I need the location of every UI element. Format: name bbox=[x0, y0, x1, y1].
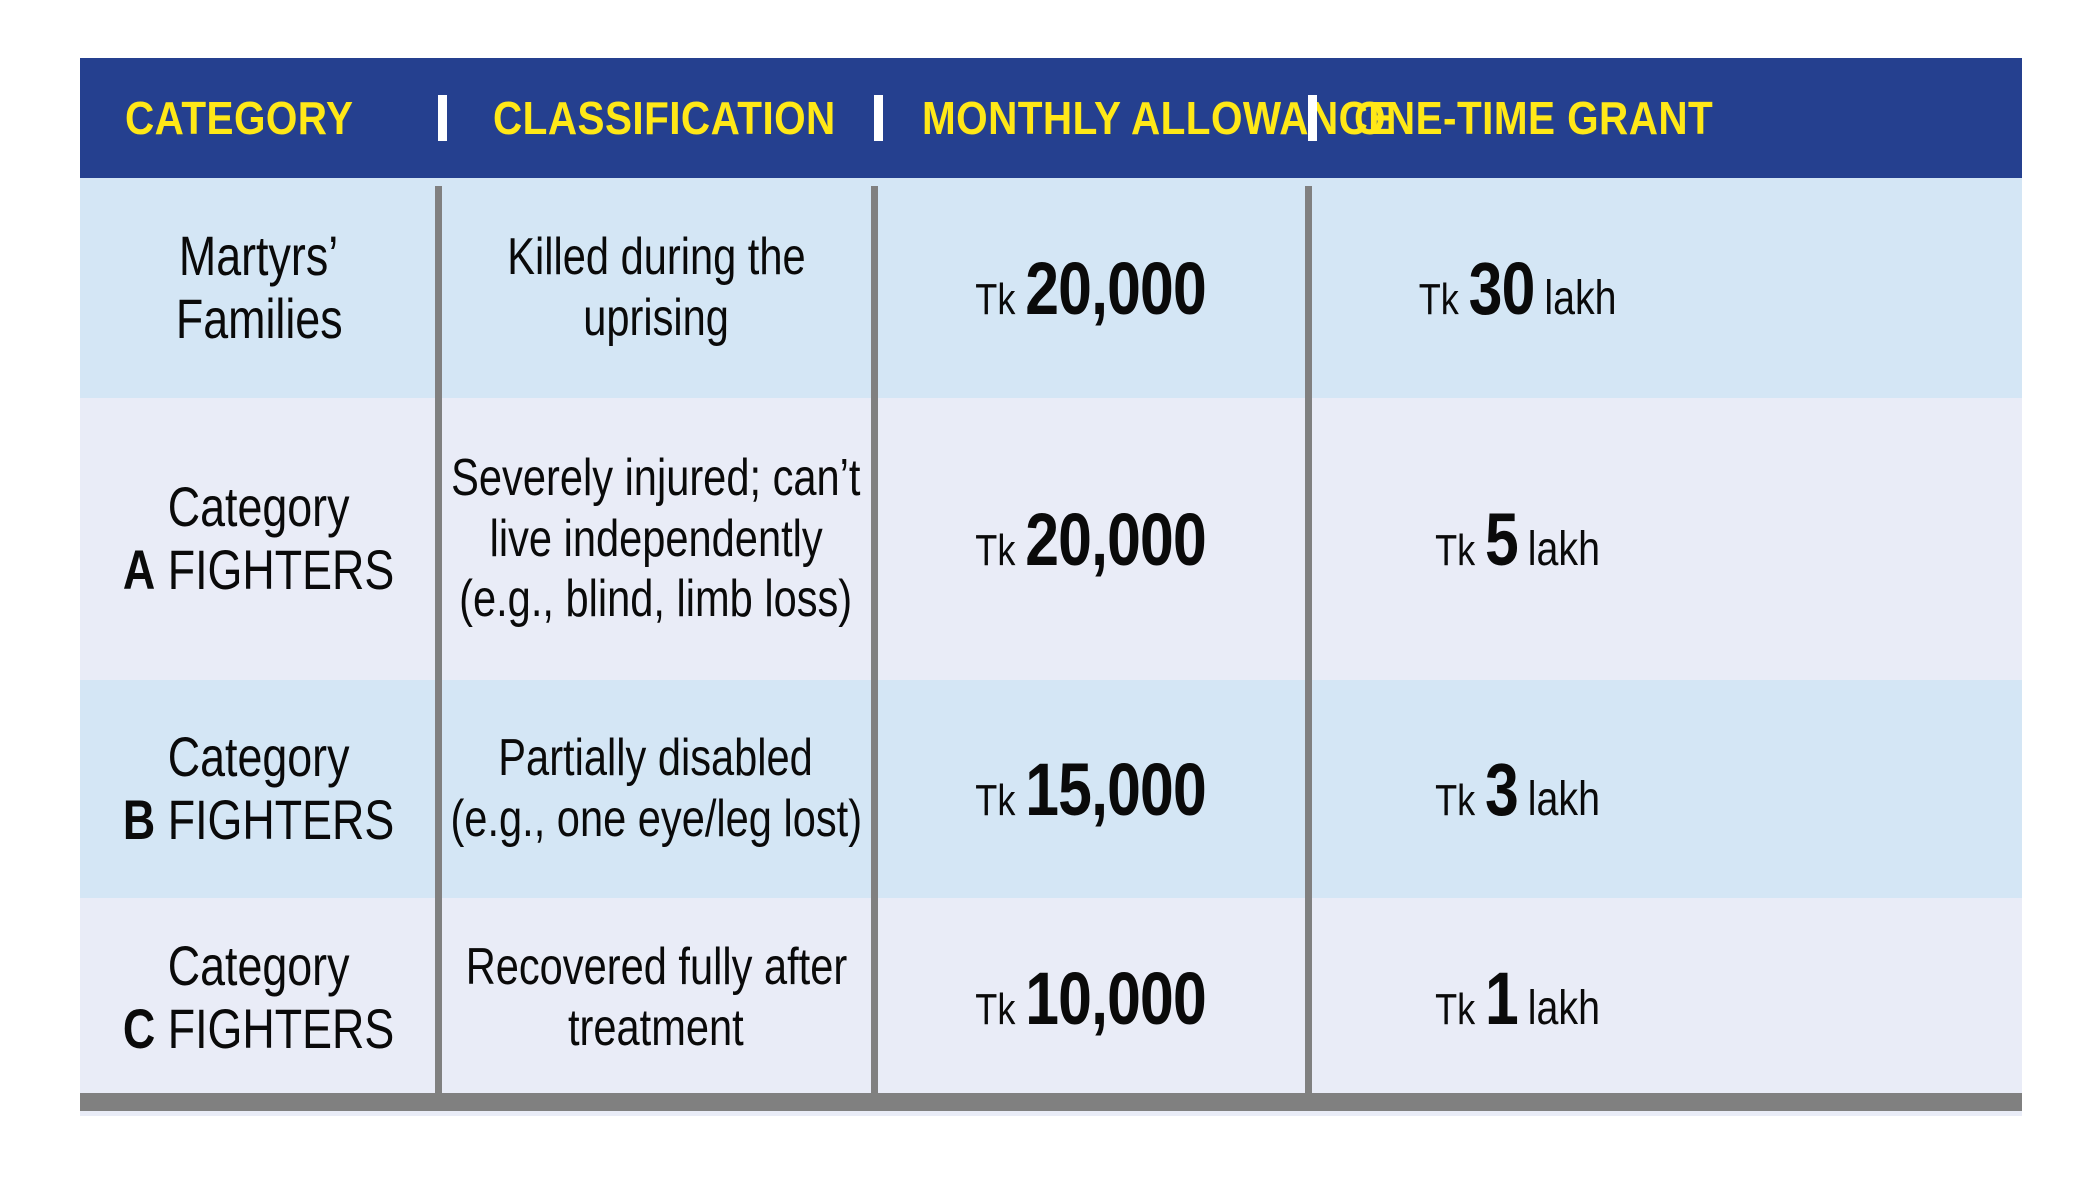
category-line-secondary: B FIGHTERS bbox=[123, 789, 394, 852]
infographic-table-canvas: CATEGORY CLASSIFICATION MONTHLY ALLOWANC… bbox=[0, 0, 2100, 1178]
classification-line: Severely injured; can’t bbox=[451, 448, 860, 509]
cell-category: Category B FIGHTERS bbox=[80, 680, 438, 898]
currency-unit: Tk bbox=[976, 275, 1016, 325]
cell-classification: Partially disabled (e.g., one eye/leg lo… bbox=[438, 680, 874, 898]
amount-suffix: lakh bbox=[1528, 772, 1600, 827]
classification-line: treatment bbox=[568, 998, 744, 1059]
category-line-secondary: Families bbox=[176, 288, 343, 351]
vertical-bar-icon bbox=[1308, 95, 1317, 141]
column-header-classification-label: CLASSIFICATION bbox=[493, 95, 836, 141]
category-line-secondary: A FIGHTERS bbox=[123, 539, 394, 602]
category-suffix: FIGHTERS bbox=[168, 997, 395, 1060]
classification-line: uprising bbox=[583, 288, 729, 349]
monthly-allowance-value: Tk 10,000 bbox=[976, 956, 1207, 1041]
category-letter: C bbox=[123, 997, 155, 1060]
classification-line: Partially disabled bbox=[499, 728, 813, 789]
classification-line: (e.g., one eye/leg lost) bbox=[450, 789, 862, 850]
column-divider bbox=[871, 186, 878, 1104]
table-drop-shadow bbox=[80, 1093, 2022, 1111]
amount: 5 bbox=[1485, 497, 1518, 582]
category-line-primary: Category bbox=[168, 476, 350, 539]
category-line-primary: Category bbox=[168, 935, 350, 998]
category-line-primary: Martyrs’ bbox=[179, 225, 338, 288]
cell-one-time-grant: Tk 30 lakh bbox=[1308, 178, 1728, 398]
amount: 20,000 bbox=[1026, 246, 1207, 331]
table-body: Martyrs’ Families Killed during the upri… bbox=[80, 178, 2022, 1116]
currency-unit: Tk bbox=[1436, 776, 1476, 826]
column-header-category-label: CATEGORY bbox=[125, 95, 353, 141]
category-letter: B bbox=[123, 788, 155, 851]
cell-classification: Severely injured; can’t live independent… bbox=[438, 398, 874, 680]
cell-one-time-grant: Tk 1 lakh bbox=[1308, 898, 1728, 1098]
amount-suffix: lakh bbox=[1528, 981, 1600, 1036]
cell-one-time-grant: Tk 3 lakh bbox=[1308, 680, 1728, 898]
category-suffix: FIGHTERS bbox=[168, 538, 395, 601]
column-divider bbox=[1305, 186, 1312, 1104]
amount: 20,000 bbox=[1026, 497, 1207, 582]
monthly-allowance-value: Tk 15,000 bbox=[976, 747, 1207, 832]
cell-monthly-allowance: Tk 15,000 bbox=[874, 680, 1308, 898]
vertical-bar-icon bbox=[874, 95, 883, 141]
column-divider bbox=[435, 186, 442, 1104]
currency-unit: Tk bbox=[1419, 275, 1459, 325]
table-row: Martyrs’ Families Killed during the upri… bbox=[80, 178, 2022, 398]
cell-monthly-allowance: Tk 10,000 bbox=[874, 898, 1308, 1098]
column-header-category: CATEGORY bbox=[80, 58, 438, 178]
one-time-grant-value: Tk 5 lakh bbox=[1436, 497, 1601, 582]
category-line-secondary: C FIGHTERS bbox=[123, 998, 394, 1061]
table-row: Category A FIGHTERS Severely injured; ca… bbox=[80, 398, 2022, 680]
cell-one-time-grant: Tk 5 lakh bbox=[1308, 398, 1728, 680]
one-time-grant-value: Tk 1 lakh bbox=[1436, 956, 1601, 1041]
classification-line: Recovered fully after bbox=[465, 937, 847, 998]
currency-unit: Tk bbox=[976, 985, 1016, 1035]
classification-line: live independently bbox=[489, 509, 822, 570]
benefits-table: CATEGORY CLASSIFICATION MONTHLY ALLOWANC… bbox=[80, 58, 2022, 1116]
cell-classification: Recovered fully after treatment bbox=[438, 898, 874, 1098]
amount-suffix: lakh bbox=[1528, 522, 1600, 577]
amount-suffix: lakh bbox=[1545, 271, 1617, 326]
category-line-primary: Category bbox=[168, 726, 350, 789]
cell-monthly-allowance: Tk 20,000 bbox=[874, 398, 1308, 680]
category-letter: A bbox=[123, 538, 155, 601]
cell-classification: Killed during the uprising bbox=[438, 178, 874, 398]
amount: 15,000 bbox=[1026, 747, 1207, 832]
currency-unit: Tk bbox=[976, 776, 1016, 826]
category-suffix: FIGHTERS bbox=[168, 788, 395, 851]
classification-line: (e.g., blind, limb loss) bbox=[459, 569, 852, 630]
currency-unit: Tk bbox=[1436, 985, 1476, 1035]
amount: 10,000 bbox=[1026, 956, 1207, 1041]
currency-unit: Tk bbox=[1436, 526, 1476, 576]
amount: 3 bbox=[1485, 747, 1518, 832]
monthly-allowance-value: Tk 20,000 bbox=[976, 497, 1207, 582]
cell-category: Category A FIGHTERS bbox=[80, 398, 438, 680]
currency-unit: Tk bbox=[976, 526, 1016, 576]
one-time-grant-value: Tk 3 lakh bbox=[1436, 747, 1601, 832]
cell-category: Martyrs’ Families bbox=[80, 178, 438, 398]
monthly-allowance-value: Tk 20,000 bbox=[976, 246, 1207, 331]
classification-line: Killed during the bbox=[507, 227, 805, 288]
cell-category: Category C FIGHTERS bbox=[80, 898, 438, 1098]
vertical-bar-icon bbox=[438, 95, 447, 141]
column-header-one-time-grant-label: ONE-TIME GRANT bbox=[1354, 95, 1713, 141]
column-header-classification: CLASSIFICATION bbox=[438, 58, 874, 178]
table-header-row: CATEGORY CLASSIFICATION MONTHLY ALLOWANC… bbox=[80, 58, 2022, 178]
one-time-grant-value: Tk 30 lakh bbox=[1419, 246, 1617, 331]
amount: 30 bbox=[1469, 246, 1535, 331]
column-header-monthly-allowance: MONTHLY ALLOWANCE bbox=[874, 58, 1308, 178]
cell-monthly-allowance: Tk 20,000 bbox=[874, 178, 1308, 398]
column-header-one-time-grant: ONE-TIME GRANT bbox=[1308, 58, 1728, 178]
table-row: Category B FIGHTERS Partially disabled (… bbox=[80, 680, 2022, 898]
amount: 1 bbox=[1485, 956, 1518, 1041]
table-row: Category C FIGHTERS Recovered fully afte… bbox=[80, 898, 2022, 1098]
